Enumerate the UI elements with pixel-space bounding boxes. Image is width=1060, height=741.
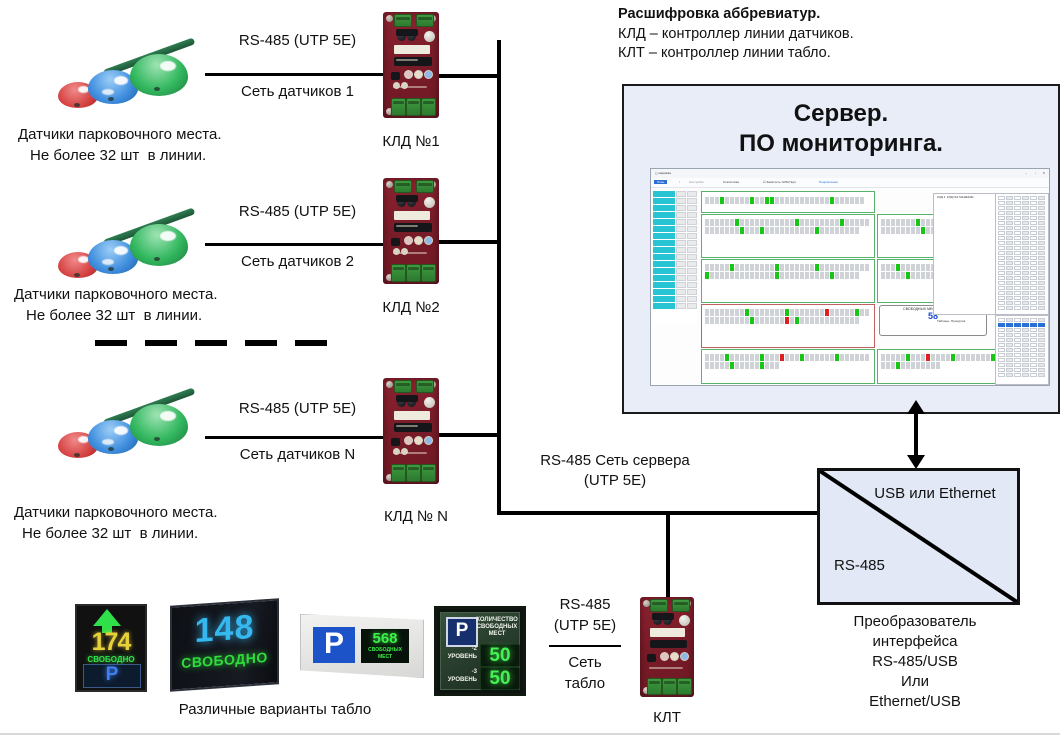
parking-cell[interactable]	[775, 219, 779, 226]
app-right-panel[interactable]	[933, 193, 997, 315]
table-cell[interactable]	[1006, 291, 1013, 295]
table-cell[interactable]	[998, 251, 1005, 255]
parking-cell[interactable]	[775, 264, 779, 271]
table-cell[interactable]	[1022, 256, 1029, 260]
parking-cell[interactable]	[845, 219, 849, 226]
parking-cell[interactable]	[840, 317, 844, 324]
parking-cell[interactable]	[850, 354, 854, 361]
table-row[interactable]	[998, 231, 1045, 235]
table-cell[interactable]	[998, 343, 1005, 347]
parking-cell[interactable]	[865, 264, 869, 271]
parking-cell[interactable]	[795, 227, 799, 234]
parking-cell[interactable]	[785, 197, 789, 204]
parking-cell[interactable]	[765, 264, 769, 271]
table-cell[interactable]	[1006, 196, 1013, 200]
table-cell[interactable]	[998, 286, 1005, 290]
table-cell[interactable]	[1038, 246, 1045, 250]
parking-cell[interactable]	[981, 354, 985, 361]
table-cell[interactable]	[998, 338, 1005, 342]
parking-cell[interactable]	[755, 227, 759, 234]
parking-cell[interactable]	[715, 219, 719, 226]
parking-cell[interactable]	[931, 354, 935, 361]
parking-cell[interactable]	[725, 362, 729, 369]
parking-cell[interactable]	[785, 272, 789, 279]
table-cell[interactable]	[1006, 281, 1013, 285]
parking-cell[interactable]	[845, 317, 849, 324]
parking-cell[interactable]	[830, 317, 834, 324]
parking-cell[interactable]	[850, 197, 854, 204]
table-cell[interactable]	[1006, 221, 1013, 225]
table-cell[interactable]	[998, 226, 1005, 230]
parking-cell[interactable]	[825, 264, 829, 271]
table-cell[interactable]	[1030, 368, 1037, 372]
parking-cell[interactable]	[860, 264, 864, 271]
parking-cell[interactable]	[830, 264, 834, 271]
table-row[interactable]	[998, 343, 1045, 347]
parking-cell[interactable]	[805, 227, 809, 234]
table-cell[interactable]	[1014, 216, 1021, 220]
parking-cell[interactable]	[755, 362, 759, 369]
parking-cell[interactable]	[926, 362, 930, 369]
table-cell[interactable]	[998, 211, 1005, 215]
parking-cell[interactable]	[966, 354, 970, 361]
table-cell[interactable]	[1014, 231, 1021, 235]
parking-cell[interactable]	[911, 264, 915, 271]
parking-cell[interactable]	[750, 309, 754, 316]
table-cell[interactable]	[1022, 301, 1029, 305]
table-cell[interactable]	[1014, 201, 1021, 205]
parking-cell[interactable]	[785, 227, 789, 234]
parking-cell[interactable]	[855, 227, 859, 234]
table-cell[interactable]	[1014, 251, 1021, 255]
parking-cell[interactable]	[840, 197, 844, 204]
parking-cell[interactable]	[725, 354, 729, 361]
parking-cell[interactable]	[901, 354, 905, 361]
table-cell[interactable]	[1022, 328, 1029, 332]
table-cell[interactable]	[1014, 318, 1021, 322]
parking-cell[interactable]	[926, 219, 930, 226]
parking-cell[interactable]	[805, 264, 809, 271]
parking-cell[interactable]	[725, 219, 729, 226]
parking-cell[interactable]	[860, 197, 864, 204]
table-cell[interactable]	[1014, 241, 1021, 245]
parking-cell[interactable]	[891, 227, 895, 234]
parking-cell[interactable]	[886, 272, 890, 279]
table-cell[interactable]	[998, 333, 1005, 337]
parking-cell[interactable]	[775, 317, 779, 324]
parking-cell[interactable]	[921, 272, 925, 279]
parking-cell[interactable]	[830, 309, 834, 316]
parking-cell[interactable]	[770, 317, 774, 324]
parking-cell[interactable]	[916, 227, 920, 234]
parking-cell[interactable]	[705, 362, 709, 369]
parking-cell[interactable]	[840, 272, 844, 279]
parking-cell[interactable]	[906, 264, 910, 271]
table-cell[interactable]	[1006, 211, 1013, 215]
parking-cell[interactable]	[961, 354, 965, 361]
table-cell[interactable]	[998, 201, 1005, 205]
table-cell[interactable]	[1006, 286, 1013, 290]
table-cell[interactable]	[998, 281, 1005, 285]
parking-cell[interactable]	[750, 227, 754, 234]
parking-cell[interactable]	[725, 197, 729, 204]
parking-cell[interactable]	[891, 272, 895, 279]
parking-cell[interactable]	[936, 354, 940, 361]
parking-cell[interactable]	[740, 197, 744, 204]
table-row[interactable]	[998, 373, 1045, 377]
parking-cell[interactable]	[825, 197, 829, 204]
table-cell[interactable]	[1014, 271, 1021, 275]
parking-cell[interactable]	[705, 317, 709, 324]
parking-cell[interactable]	[740, 227, 744, 234]
table-cell[interactable]	[1014, 358, 1021, 362]
parking-cell[interactable]	[906, 354, 910, 361]
parking-cell[interactable]	[901, 227, 905, 234]
table-cell[interactable]	[1038, 296, 1045, 300]
parking-cell[interactable]	[845, 272, 849, 279]
table-cell[interactable]	[1022, 266, 1029, 270]
table-cell[interactable]	[1038, 196, 1045, 200]
table-cell[interactable]	[998, 296, 1005, 300]
parking-cell[interactable]	[770, 272, 774, 279]
parking-cell[interactable]	[745, 264, 749, 271]
table-row[interactable]	[998, 286, 1045, 290]
parking-cell[interactable]	[770, 354, 774, 361]
table-cell[interactable]	[1006, 276, 1013, 280]
parking-cell[interactable]	[916, 362, 920, 369]
table-cell[interactable]	[1022, 353, 1029, 357]
parking-cell[interactable]	[720, 219, 724, 226]
table-cell[interactable]	[998, 256, 1005, 260]
table-row[interactable]	[998, 328, 1045, 332]
table-cell[interactable]	[1022, 246, 1029, 250]
table-cell[interactable]	[1038, 211, 1045, 215]
table-cell[interactable]	[1022, 196, 1029, 200]
table-cell[interactable]	[1022, 276, 1029, 280]
table-cell[interactable]	[1014, 348, 1021, 352]
parking-cell[interactable]	[800, 264, 804, 271]
table-cell[interactable]	[1022, 306, 1029, 310]
parking-cell[interactable]	[906, 219, 910, 226]
parking-cell[interactable]	[800, 227, 804, 234]
table-cell[interactable]	[1038, 291, 1045, 295]
parking-cell[interactable]	[911, 354, 915, 361]
parking-cell[interactable]	[765, 272, 769, 279]
parking-cell[interactable]	[790, 272, 794, 279]
parking-cell[interactable]	[916, 354, 920, 361]
table-cell[interactable]	[1006, 333, 1013, 337]
parking-cell[interactable]	[795, 309, 799, 316]
parking-cell[interactable]	[760, 362, 764, 369]
table-cell[interactable]	[1030, 358, 1037, 362]
table-cell[interactable]	[1014, 368, 1021, 372]
table-cell[interactable]	[1006, 216, 1013, 220]
parking-cell[interactable]	[725, 272, 729, 279]
parking-cell[interactable]	[705, 219, 709, 226]
parking-cell[interactable]	[921, 264, 925, 271]
parking-cell[interactable]	[750, 354, 754, 361]
parking-cell[interactable]	[740, 354, 744, 361]
parking-cell[interactable]	[740, 264, 744, 271]
parking-cell[interactable]	[815, 317, 819, 324]
parking-cell[interactable]	[780, 219, 784, 226]
parking-cell[interactable]	[800, 317, 804, 324]
parking-cell[interactable]	[815, 354, 819, 361]
table-cell[interactable]	[998, 261, 1005, 265]
parking-cell[interactable]	[800, 197, 804, 204]
table-cell[interactable]	[998, 353, 1005, 357]
parking-cell[interactable]	[986, 354, 990, 361]
table-cell[interactable]	[1030, 251, 1037, 255]
table-cell[interactable]	[998, 348, 1005, 352]
parking-cell[interactable]	[795, 219, 799, 226]
parking-cell[interactable]	[815, 264, 819, 271]
parking-cell[interactable]	[830, 354, 834, 361]
table-cell[interactable]	[1038, 358, 1045, 362]
table-cell[interactable]	[1022, 338, 1029, 342]
table-row[interactable]	[998, 266, 1045, 270]
table-cell[interactable]	[1014, 286, 1021, 290]
table-cell[interactable]	[998, 206, 1005, 210]
table-cell[interactable]	[998, 306, 1005, 310]
parking-cell[interactable]	[755, 354, 759, 361]
parking-cell[interactable]	[825, 272, 829, 279]
table-cell[interactable]	[1006, 338, 1013, 342]
parking-cell[interactable]	[911, 272, 915, 279]
parking-cell[interactable]	[800, 272, 804, 279]
table-row[interactable]	[998, 333, 1045, 337]
parking-cell[interactable]	[780, 227, 784, 234]
parking-cell[interactable]	[820, 317, 824, 324]
table-cell[interactable]	[1030, 201, 1037, 205]
table-row[interactable]	[998, 241, 1045, 245]
table-row[interactable]	[998, 216, 1045, 220]
parking-cell[interactable]	[810, 317, 814, 324]
parking-cell[interactable]	[770, 264, 774, 271]
table-cell[interactable]	[998, 241, 1005, 245]
parking-cell[interactable]	[780, 354, 784, 361]
parking-cell[interactable]	[745, 309, 749, 316]
table-cell[interactable]	[998, 373, 1005, 377]
table-row[interactable]	[998, 236, 1045, 240]
parking-cell[interactable]	[705, 354, 709, 361]
parking-cell[interactable]	[775, 354, 779, 361]
parking-cell[interactable]	[800, 309, 804, 316]
table-cell[interactable]	[1038, 323, 1045, 327]
parking-cell[interactable]	[705, 197, 709, 204]
parking-cell[interactable]	[805, 219, 809, 226]
parking-cell[interactable]	[720, 309, 724, 316]
parking-cell[interactable]	[815, 219, 819, 226]
parking-cell[interactable]	[881, 354, 885, 361]
table-cell[interactable]	[1038, 251, 1045, 255]
table-row[interactable]	[998, 368, 1045, 372]
parking-cell[interactable]	[855, 197, 859, 204]
parking-cell[interactable]	[835, 197, 839, 204]
parking-cell[interactable]	[710, 264, 714, 271]
table-row[interactable]	[998, 348, 1045, 352]
table-cell[interactable]	[1038, 236, 1045, 240]
table-cell[interactable]	[1006, 236, 1013, 240]
table-cell[interactable]	[1014, 261, 1021, 265]
table-row[interactable]	[998, 358, 1045, 362]
parking-cell[interactable]	[845, 227, 849, 234]
table-cell[interactable]	[1022, 286, 1029, 290]
parking-cell[interactable]	[835, 309, 839, 316]
parking-cell[interactable]	[886, 227, 890, 234]
parking-row-group[interactable]	[701, 191, 875, 213]
table-cell[interactable]	[1014, 291, 1021, 295]
parking-cell[interactable]	[820, 309, 824, 316]
parking-cell[interactable]	[790, 197, 794, 204]
table-row[interactable]	[998, 261, 1045, 265]
table-cell[interactable]	[1014, 206, 1021, 210]
table-cell[interactable]	[1030, 231, 1037, 235]
table-cell[interactable]	[1022, 201, 1029, 205]
table-cell[interactable]	[1014, 196, 1021, 200]
parking-cell[interactable]	[755, 264, 759, 271]
parking-cell[interactable]	[835, 272, 839, 279]
table-cell[interactable]	[1014, 246, 1021, 250]
table-cell[interactable]	[1030, 221, 1037, 225]
parking-cell[interactable]	[770, 219, 774, 226]
table-cell[interactable]	[1022, 333, 1029, 337]
parking-cell[interactable]	[750, 197, 754, 204]
app-right-grid-bottom[interactable]	[995, 315, 1049, 385]
parking-cell[interactable]	[795, 354, 799, 361]
parking-cell[interactable]	[825, 309, 829, 316]
table-cell[interactable]	[1030, 211, 1037, 215]
parking-cell[interactable]	[921, 219, 925, 226]
table-row[interactable]	[998, 301, 1045, 305]
table-cell[interactable]	[1014, 373, 1021, 377]
table-row[interactable]	[998, 323, 1045, 327]
table-cell[interactable]	[1022, 296, 1029, 300]
table-row[interactable]	[998, 196, 1045, 200]
table-cell[interactable]	[998, 266, 1005, 270]
parking-cell[interactable]	[855, 309, 859, 316]
table-cell[interactable]	[998, 291, 1005, 295]
parking-cell[interactable]	[921, 362, 925, 369]
parking-cell[interactable]	[770, 227, 774, 234]
table-cell[interactable]	[1022, 236, 1029, 240]
parking-cell[interactable]	[901, 264, 905, 271]
parking-cell[interactable]	[891, 219, 895, 226]
parking-cell[interactable]	[750, 272, 754, 279]
parking-cell[interactable]	[810, 309, 814, 316]
parking-cell[interactable]	[881, 219, 885, 226]
app-toolbar[interactable]: План ▫ Настройки Статистика ☑ Занятость …	[651, 178, 1049, 188]
parking-cell[interactable]	[820, 354, 824, 361]
parking-cell[interactable]	[735, 264, 739, 271]
table-cell[interactable]	[998, 196, 1005, 200]
table-cell[interactable]	[1038, 373, 1045, 377]
table-cell[interactable]	[1006, 353, 1013, 357]
parking-cell[interactable]	[730, 219, 734, 226]
parking-cell[interactable]	[810, 264, 814, 271]
table-cell[interactable]	[1014, 306, 1021, 310]
table-cell[interactable]	[1014, 323, 1021, 327]
parking-cell[interactable]	[941, 354, 945, 361]
parking-cell[interactable]	[730, 317, 734, 324]
parking-cell[interactable]	[845, 264, 849, 271]
table-row[interactable]	[998, 338, 1045, 342]
table-cell[interactable]	[1030, 363, 1037, 367]
table-row[interactable]	[998, 221, 1045, 225]
table-cell[interactable]	[1030, 306, 1037, 310]
parking-cell[interactable]	[901, 272, 905, 279]
parking-cell[interactable]	[720, 362, 724, 369]
parking-cell[interactable]	[891, 264, 895, 271]
table-cell[interactable]	[1022, 343, 1029, 347]
table-cell[interactable]	[998, 216, 1005, 220]
table-cell[interactable]	[1006, 266, 1013, 270]
parking-cell[interactable]	[881, 227, 885, 234]
parking-cell[interactable]	[835, 354, 839, 361]
table-row[interactable]	[998, 276, 1045, 280]
table-cell[interactable]	[1038, 306, 1045, 310]
table-cell[interactable]	[1006, 246, 1013, 250]
parking-cell[interactable]	[740, 309, 744, 316]
table-cell[interactable]	[1006, 296, 1013, 300]
table-cell[interactable]	[1030, 286, 1037, 290]
table-cell[interactable]	[1006, 251, 1013, 255]
parking-cell[interactable]	[790, 354, 794, 361]
parking-cell[interactable]	[775, 227, 779, 234]
table-cell[interactable]	[1022, 271, 1029, 275]
table-cell[interactable]	[998, 368, 1005, 372]
parking-cell[interactable]	[790, 219, 794, 226]
table-cell[interactable]	[1014, 256, 1021, 260]
parking-cell[interactable]	[775, 197, 779, 204]
table-cell[interactable]	[1030, 353, 1037, 357]
parking-cell[interactable]	[795, 272, 799, 279]
parking-cell[interactable]	[971, 354, 975, 361]
table-cell[interactable]	[1006, 373, 1013, 377]
parking-cell[interactable]	[785, 317, 789, 324]
parking-cell[interactable]	[830, 197, 834, 204]
parking-cell[interactable]	[715, 354, 719, 361]
parking-cell[interactable]	[775, 362, 779, 369]
parking-cell[interactable]	[825, 354, 829, 361]
table-cell[interactable]	[1030, 226, 1037, 230]
parking-cell[interactable]	[896, 264, 900, 271]
parking-cell[interactable]	[710, 197, 714, 204]
table-cell[interactable]	[1014, 276, 1021, 280]
table-cell[interactable]	[1014, 353, 1021, 357]
parking-cell[interactable]	[750, 219, 754, 226]
parking-cell[interactable]	[835, 227, 839, 234]
parking-cell[interactable]	[865, 219, 869, 226]
table-cell[interactable]	[1014, 338, 1021, 342]
table-cell[interactable]	[1006, 301, 1013, 305]
table-cell[interactable]	[1038, 216, 1045, 220]
parking-cell[interactable]	[710, 219, 714, 226]
parking-cell[interactable]	[840, 354, 844, 361]
parking-cell[interactable]	[735, 354, 739, 361]
table-cell[interactable]	[1038, 286, 1045, 290]
table-cell[interactable]	[1014, 281, 1021, 285]
parking-cell[interactable]	[835, 317, 839, 324]
table-cell[interactable]	[1030, 261, 1037, 265]
table-cell[interactable]	[998, 328, 1005, 332]
table-cell[interactable]	[998, 236, 1005, 240]
parking-cell[interactable]	[730, 227, 734, 234]
parking-cell[interactable]	[825, 219, 829, 226]
table-cell[interactable]	[1038, 241, 1045, 245]
parking-cell[interactable]	[976, 354, 980, 361]
table-cell[interactable]	[1022, 251, 1029, 255]
